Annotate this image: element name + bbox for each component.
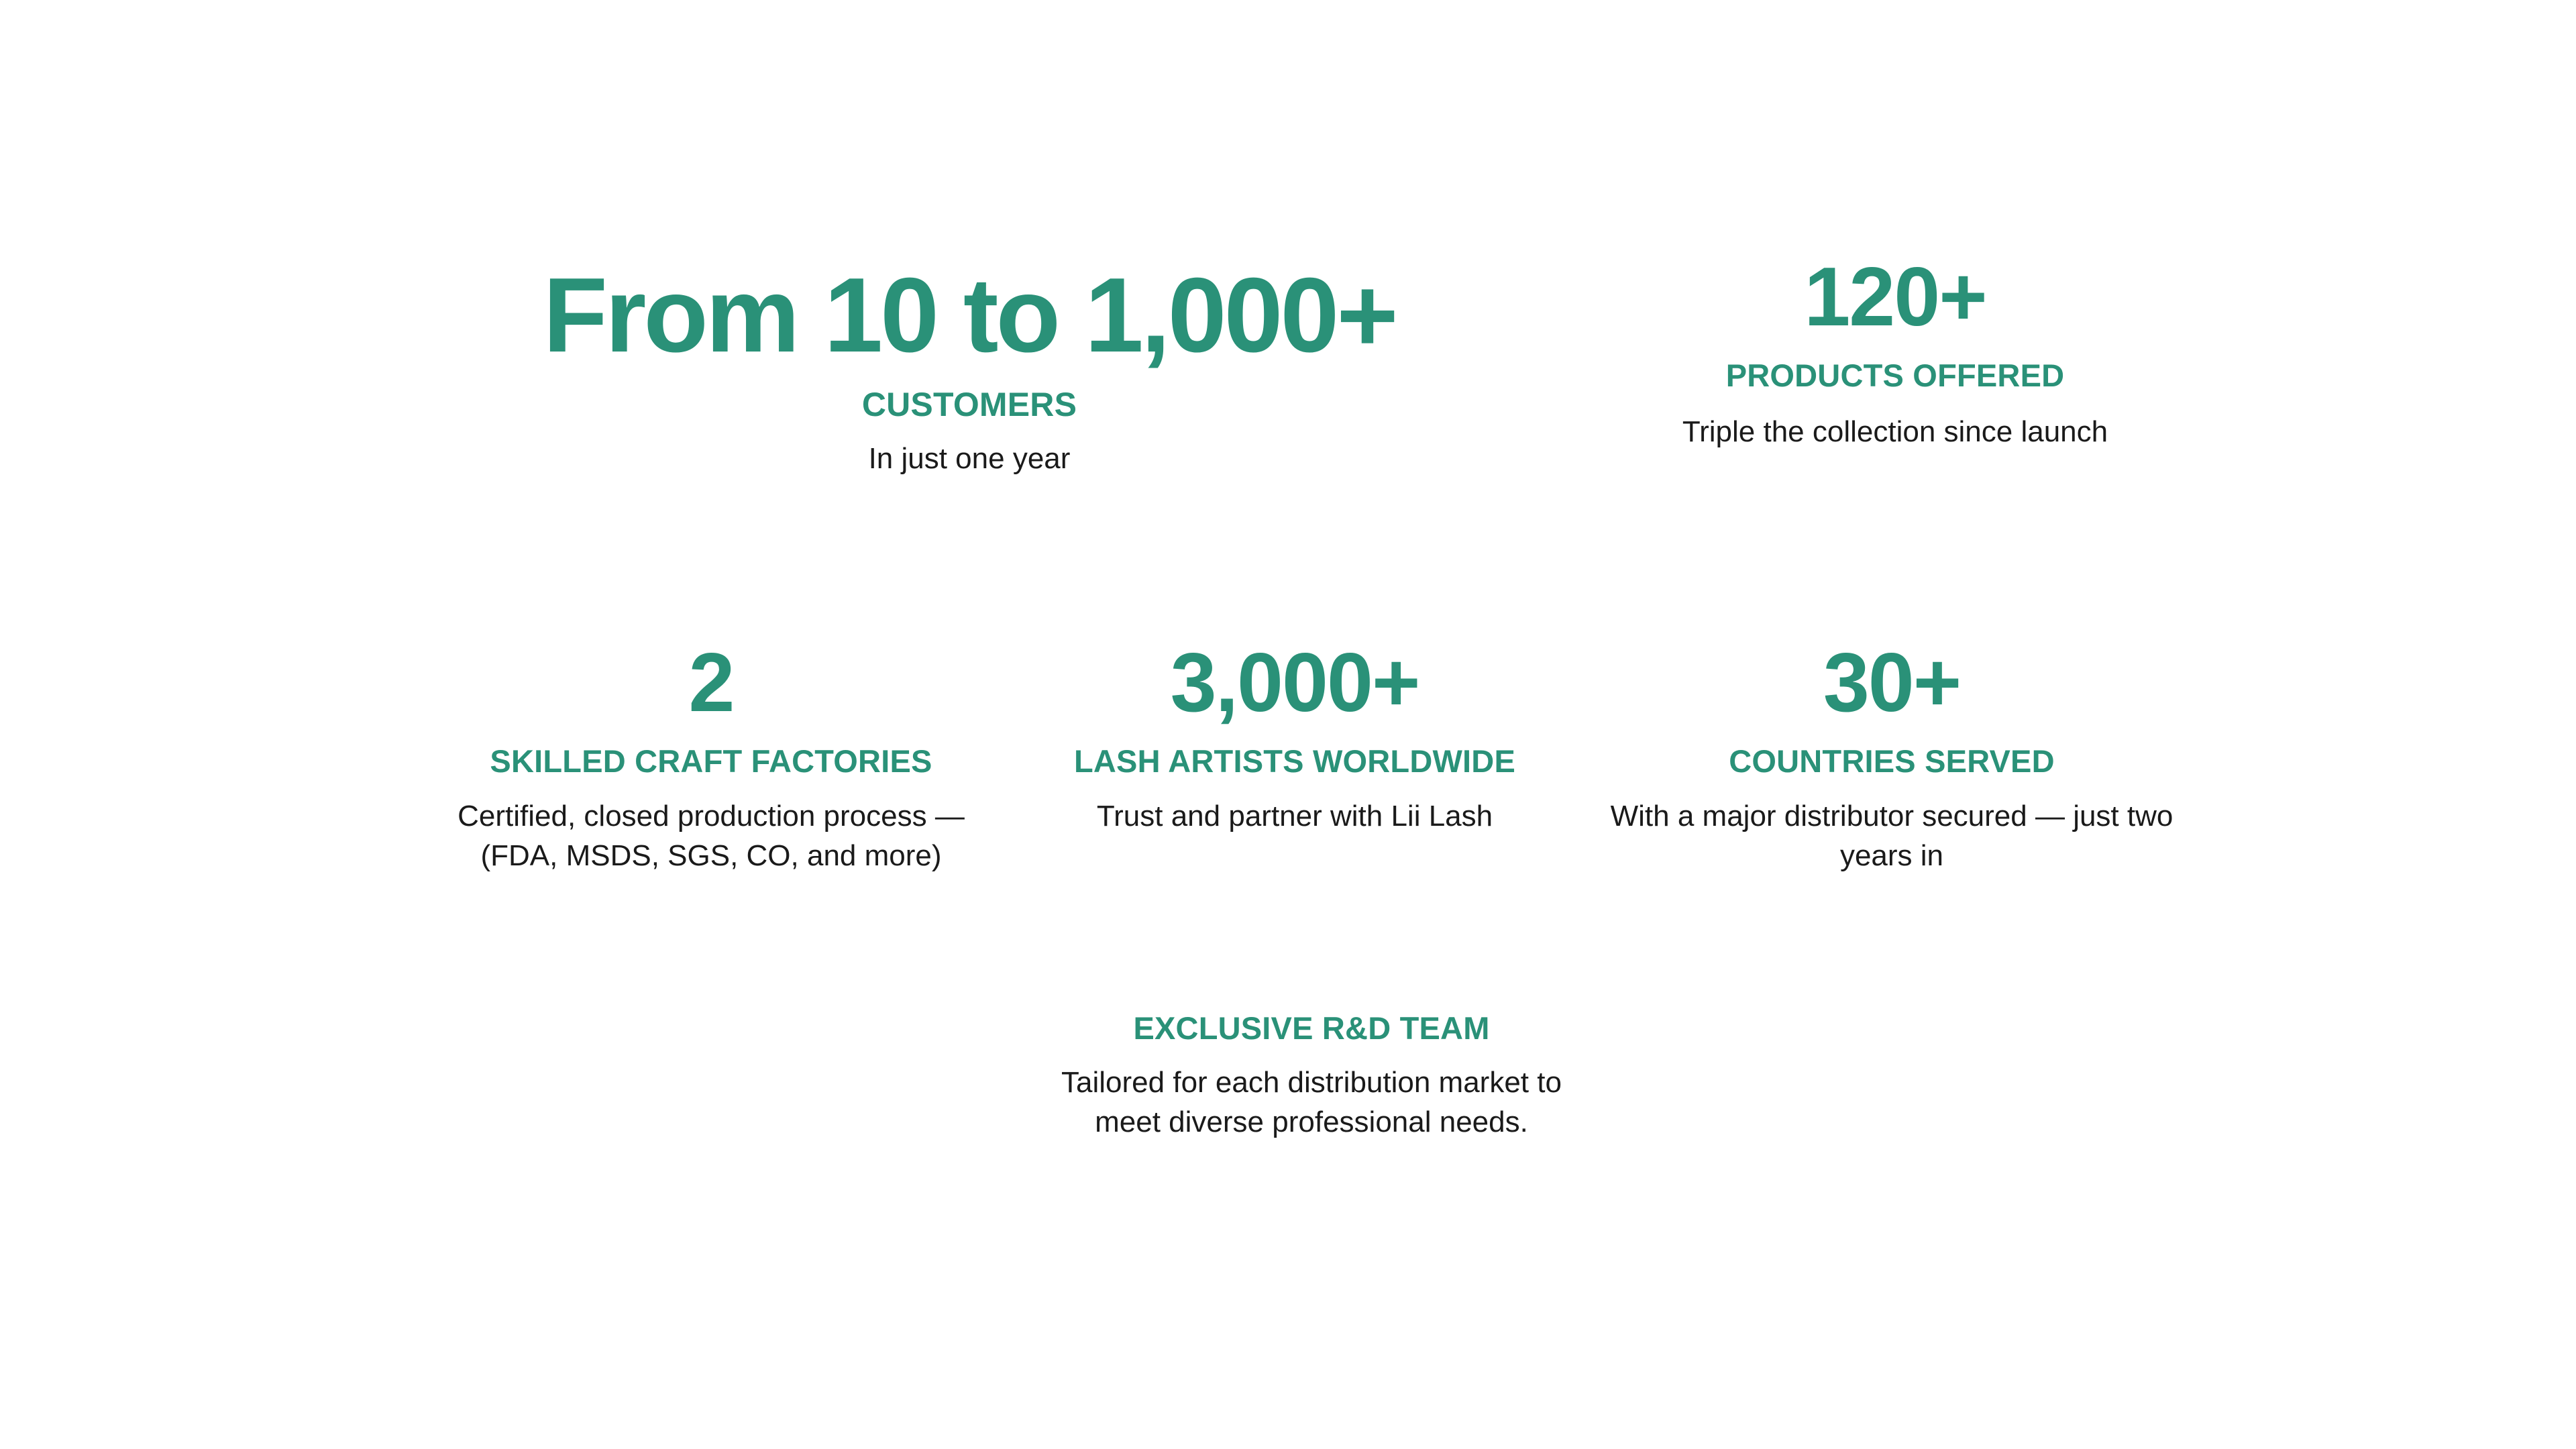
stat-value-products-offered: 120+ bbox=[1623, 255, 2167, 339]
stat-value-countries-served: 30+ bbox=[1610, 641, 2173, 725]
stat-value-skilled-craft-factories: 2 bbox=[429, 641, 993, 725]
stat-description-countries-served: With a major distributor secured — just … bbox=[1610, 797, 2173, 876]
stat-label-skilled-craft-factories: SKILLED CRAFT FACTORIES bbox=[429, 743, 993, 780]
stat-card-exclusive-rd-team: EXCLUSIVE R&D TEAM Tailored for each dis… bbox=[1026, 1010, 1597, 1142]
stat-card-skilled-craft-factories: 2 SKILLED CRAFT FACTORIES Certified, clo… bbox=[429, 641, 993, 876]
stat-card-countries-served: 30+ COUNTRIES SERVED With a major distri… bbox=[1610, 641, 2173, 876]
stat-value-customers: From 10 to 1,000+ bbox=[288, 262, 1650, 370]
stat-label-lash-artists-worldwide: LASH ARTISTS WORLDWIDE bbox=[1013, 743, 1576, 780]
stat-value-lash-artists-worldwide: 3,000+ bbox=[1013, 641, 1576, 725]
stat-card-customers: From 10 to 1,000+ CUSTOMERS In just one … bbox=[288, 262, 1650, 479]
stat-label-customers: CUSTOMERS bbox=[288, 384, 1650, 425]
stat-description-customers: In just one year bbox=[288, 439, 1650, 479]
stat-label-countries-served: COUNTRIES SERVED bbox=[1610, 743, 2173, 780]
stat-card-lash-artists-worldwide: 3,000+ LASH ARTISTS WORLDWIDE Trust and … bbox=[1013, 641, 1576, 837]
stat-description-exclusive-rd-team: Tailored for each distribution market to… bbox=[1026, 1063, 1597, 1142]
stat-description-products-offered: Triple the collection since launch bbox=[1623, 413, 2167, 452]
stat-card-products-offered: 120+ PRODUCTS OFFERED Triple the collect… bbox=[1623, 255, 2167, 452]
stats-section: From 10 to 1,000+ CUSTOMERS In just one … bbox=[0, 0, 2576, 1449]
stat-description-skilled-craft-factories: Certified, closed production process — (… bbox=[429, 797, 993, 876]
stat-label-products-offered: PRODUCTS OFFERED bbox=[1623, 357, 2167, 394]
stat-description-lash-artists-worldwide: Trust and partner with Lii Lash bbox=[1013, 797, 1576, 837]
stat-label-exclusive-rd-team: EXCLUSIVE R&D TEAM bbox=[1026, 1010, 1597, 1047]
